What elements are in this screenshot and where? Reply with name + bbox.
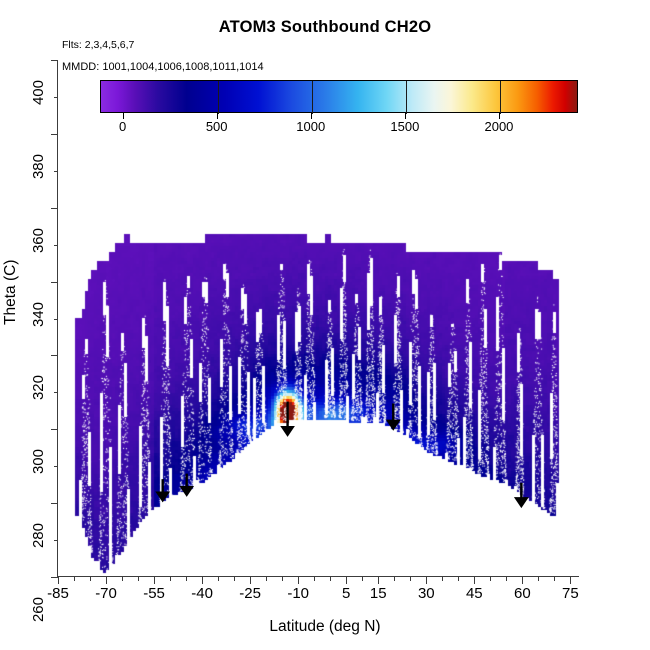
x-axis-tick [154, 577, 155, 584]
x-axis-minor-tick [170, 577, 171, 581]
y-axis-tick-label: 340 [31, 302, 46, 327]
x-axis-tick-label: -40 [191, 585, 213, 602]
x-axis-tick-label: -70 [95, 585, 117, 602]
plot-frame: 260280300320340360380400-85-70-55-40-25-… [57, 60, 579, 577]
plot-inner [58, 60, 579, 576]
x-axis-tick [426, 577, 427, 584]
y-axis-tick [51, 503, 58, 504]
x-axis-minor-tick [330, 577, 331, 581]
x-axis-minor-tick [394, 577, 395, 581]
x-axis-tick-label: 5 [342, 585, 350, 602]
y-axis-tick [51, 60, 58, 61]
y-axis-minor-tick [54, 540, 58, 541]
x-axis-tick-label: 75 [562, 585, 579, 602]
y-axis-title: Theta (C) [2, 260, 20, 325]
y-axis-tick-label: 400 [31, 80, 46, 105]
x-axis-title: Latitude (deg N) [0, 618, 650, 636]
y-axis-tick-label: 280 [31, 523, 46, 548]
figure-root: ATOM3 Southbound CH2O Flts: 2,3,4,5,6,7 … [0, 0, 650, 650]
y-axis-tick-label: 320 [31, 375, 46, 400]
x-axis-tick [250, 577, 251, 584]
y-axis-tick [51, 134, 58, 135]
flights-annotation: Flts: 2,3,4,5,6,7 [62, 39, 134, 51]
y-axis-minor-tick [54, 319, 58, 320]
y-axis-minor-tick [54, 245, 58, 246]
y-axis-minor-tick [54, 466, 58, 467]
y-axis-minor-tick [54, 171, 58, 172]
chart-title: ATOM3 Southbound CH2O [0, 18, 650, 37]
x-axis-tick-label: -55 [143, 585, 165, 602]
x-axis-tick-label: -10 [287, 585, 309, 602]
x-axis-minor-tick [410, 577, 411, 581]
x-axis-minor-tick [266, 577, 267, 581]
y-axis-tick [51, 429, 58, 430]
y-axis-minor-tick [54, 97, 58, 98]
x-axis-tick [58, 577, 59, 584]
x-axis-minor-tick [458, 577, 459, 581]
x-axis-minor-tick [442, 577, 443, 581]
x-axis-minor-tick [314, 577, 315, 581]
x-axis-tick-label: 30 [418, 585, 435, 602]
x-axis-tick-label: 15 [370, 585, 387, 602]
x-axis-minor-tick [218, 577, 219, 581]
x-axis-tick-label: -25 [239, 585, 261, 602]
x-axis-minor-tick [538, 577, 539, 581]
x-axis-tick [106, 577, 107, 584]
x-axis-tick [570, 577, 571, 584]
x-axis-minor-tick [490, 577, 491, 581]
x-axis-minor-tick [554, 577, 555, 581]
x-axis-tick [522, 577, 523, 584]
y-axis-tick-label: 380 [31, 154, 46, 179]
x-axis-minor-tick [138, 577, 139, 581]
x-axis-minor-tick [90, 577, 91, 581]
x-axis-minor-tick [74, 577, 75, 581]
x-axis-tick [346, 577, 347, 584]
y-axis-tick [51, 282, 58, 283]
x-axis-tick [474, 577, 475, 584]
x-axis-minor-tick [186, 577, 187, 581]
x-axis-tick [378, 577, 379, 584]
x-axis-tick-label: 60 [514, 585, 531, 602]
y-axis-tick [51, 355, 58, 356]
x-axis-minor-tick [362, 577, 363, 581]
x-axis-minor-tick [234, 577, 235, 581]
y-axis-tick [51, 208, 58, 209]
x-axis-minor-tick [506, 577, 507, 581]
x-axis-tick [298, 577, 299, 584]
x-axis-minor-tick [122, 577, 123, 581]
x-axis-tick [202, 577, 203, 584]
y-axis-tick [51, 577, 58, 578]
x-axis-minor-tick [282, 577, 283, 581]
y-axis-minor-tick [54, 392, 58, 393]
x-axis-tick-label: 45 [466, 585, 483, 602]
y-axis-tick-label: 360 [31, 228, 46, 253]
y-axis-tick-label: 300 [31, 449, 46, 474]
x-axis-tick-label: -85 [47, 585, 69, 602]
